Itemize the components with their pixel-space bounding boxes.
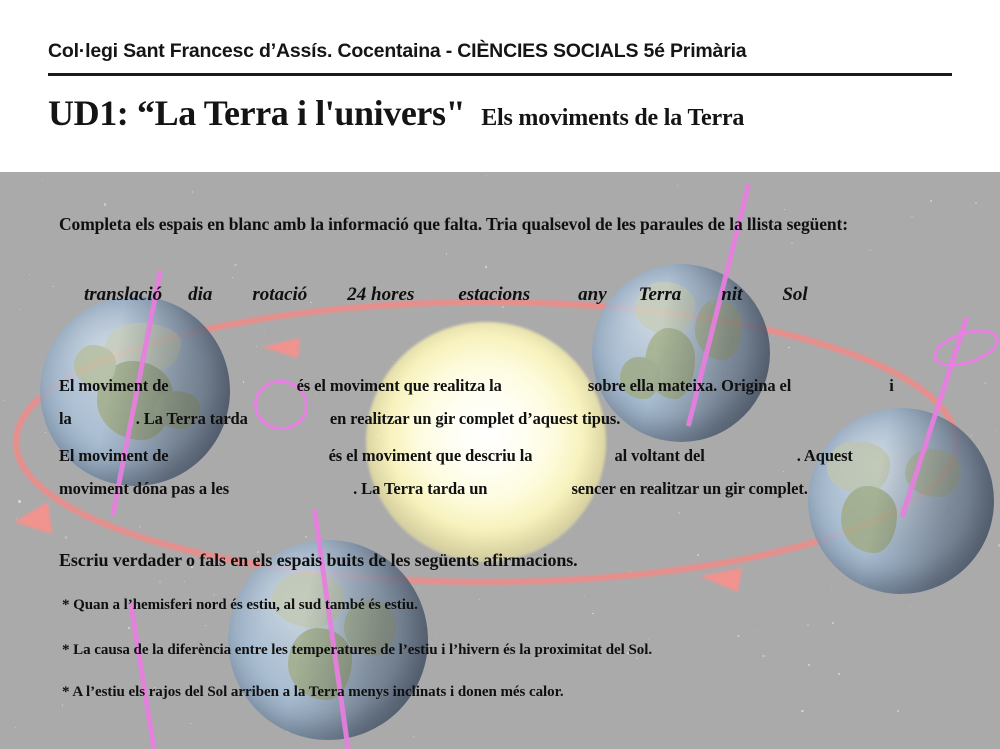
- word-bank-item-any[interactable]: any: [578, 284, 607, 306]
- para1-text-3: sobre ella mateixa. Origina el: [588, 376, 791, 395]
- word-bank-item-nit[interactable]: nit: [721, 284, 742, 306]
- para2-text-3: al voltant del: [614, 446, 704, 465]
- para1-text-5: la: [59, 409, 72, 428]
- word-bank-item-estacions[interactable]: estacions: [458, 284, 530, 306]
- true-false-statement-2[interactable]: * La causa de la diferència entre les te…: [62, 642, 652, 659]
- paragraph-rotation: El moviment de és el moviment que realit…: [59, 369, 979, 435]
- page-header: Col·legi Sant Francesc d’Assís. Cocentai…: [0, 0, 1000, 172]
- word-bank-item-rotacio[interactable]: rotació: [252, 284, 307, 306]
- school-name-line: Col·legi Sant Francesc d’Assís. Cocentai…: [48, 40, 746, 63]
- worksheet-content: Completa els espais en blanc amb la info…: [0, 172, 1000, 749]
- word-bank-item-terra[interactable]: Terra: [639, 284, 682, 306]
- true-false-statement-3[interactable]: * A l’estiu els rajos del Sol arriben a …: [62, 684, 564, 701]
- para1-text-1: El moviment de: [59, 376, 169, 395]
- word-bank-item-24-hores[interactable]: 24 hores: [347, 284, 414, 306]
- para2-text-5: moviment dóna pas a les: [59, 479, 229, 498]
- para1-text-7: en realitzar un gir complet d’aquest tip…: [330, 409, 620, 428]
- title-row: UD1: “La Terra i l'univers" Els moviment…: [48, 92, 744, 134]
- para1-text-6: . La Terra tarda: [136, 409, 248, 428]
- para2-text-2: és el moviment que descriu la: [329, 446, 533, 465]
- true-false-statement-1[interactable]: * Quan a l’hemisferi nord és estiu, al s…: [62, 597, 418, 614]
- paragraph-translation: El moviment de és el moviment que descri…: [59, 439, 979, 505]
- para2-text-4: . Aquest: [797, 446, 853, 465]
- para2-text-7: sencer en realitzar un gir complet.: [571, 479, 807, 498]
- page-subtitle: Els moviments de la Terra: [481, 105, 744, 132]
- worksheet-page: Completa els espais en blanc amb la info…: [0, 0, 1000, 749]
- para2-text-1: El moviment de: [59, 446, 169, 465]
- word-bank: translació dia rotació 24 hores estacion…: [84, 284, 954, 306]
- word-bank-item-sol[interactable]: Sol: [782, 284, 807, 306]
- word-bank-item-dia[interactable]: dia: [188, 284, 212, 306]
- para1-text-4: i: [889, 376, 893, 395]
- fill-blanks-instruction: Completa els espais en blanc amb la info…: [59, 212, 959, 237]
- para1-text-2: és el moviment que realitza la: [297, 376, 502, 395]
- true-false-instruction: Escriu verdader o fals en els espais bui…: [59, 548, 959, 573]
- page-title: UD1: “La Terra i l'univers": [48, 92, 465, 134]
- para2-text-6: . La Terra tarda un: [353, 479, 487, 498]
- header-divider: [48, 73, 952, 76]
- word-bank-item-translacio[interactable]: translació: [84, 284, 162, 306]
